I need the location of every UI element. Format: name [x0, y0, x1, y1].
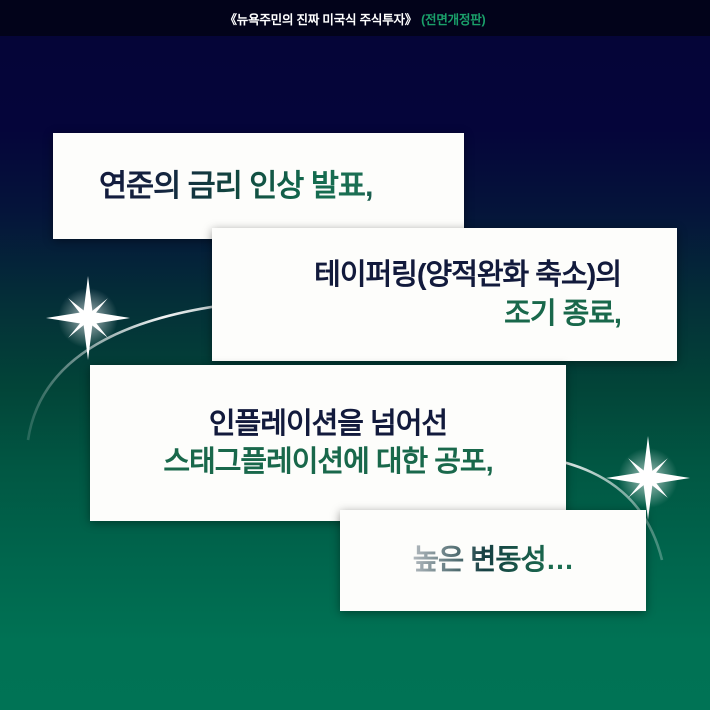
slide-canvas: 연준의 금리 인상 발표, 테이퍼링(양적완화 축소)의 조기 종료, 인플레이… — [0, 0, 710, 710]
card-line: 인플레이션을 넘어선 — [209, 405, 447, 443]
card-line: 테이퍼링(양적완화 축소)의 — [314, 256, 621, 294]
statement-card-volatility: 높은 변동성… — [340, 510, 646, 611]
card-line: 높은 변동성… — [413, 542, 574, 580]
edition-label: (전면개정판) — [421, 9, 485, 28]
statement-card-rate-hike: 연준의 금리 인상 발표, — [53, 133, 464, 239]
statement-card-stagflation: 인플레이션을 넘어선 스태그플레이션에 대한 공포, — [90, 365, 566, 521]
book-title: 《뉴욕주민의 진짜 미국식 주식투자》 — [224, 9, 417, 28]
card-line: 연준의 금리 인상 발표, — [99, 166, 436, 206]
header-bar: 《뉴욕주민의 진짜 미국식 주식투자》 (전면개정판) — [0, 0, 710, 36]
statement-card-tapering: 테이퍼링(양적완화 축소)의 조기 종료, — [212, 228, 677, 361]
card-line: 스태그플레이션에 대한 공포, — [163, 443, 492, 481]
card-line: 조기 종료, — [504, 295, 621, 333]
